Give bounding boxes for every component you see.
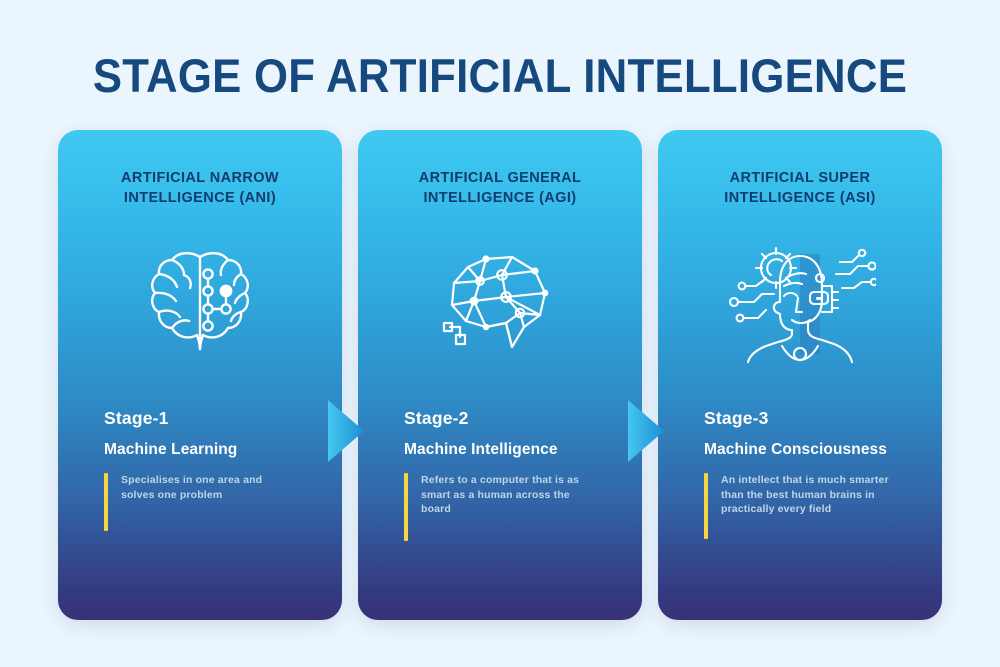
infographic-root: STAGE OF ARTIFICIAL INTELLIGENCE ARTIFIC… [0, 0, 1000, 667]
stage-description: Specialises in one area and solves one p… [121, 473, 296, 502]
card-heading-ani: ARTIFICIAL NARROW INTELLIGENCE (ANI) [58, 168, 342, 208]
arrow-stage2-to-stage3 [628, 400, 692, 462]
card-body-ani: Stage-1 Machine Learning Specialises in … [104, 408, 318, 531]
stage-description: Refers to a computer that is as smart as… [421, 473, 596, 517]
card-heading-line1: ARTIFICIAL SUPER [730, 170, 871, 186]
card-heading-line1: ARTIFICIAL NARROW [121, 170, 279, 186]
stage-name: Machine Learning [104, 441, 318, 459]
accent-bar [704, 473, 708, 539]
card-heading-line1: ARTIFICIAL GENERAL [419, 170, 581, 186]
stage-card-asi[interactable]: ARTIFICIAL SUPER INTELLIGENCE (ASI) [658, 130, 942, 620]
brain-circuit-top-icon [58, 238, 342, 368]
accent-bar [104, 473, 108, 531]
card-heading-agi: ARTIFICIAL GENERAL INTELLIGENCE (AGI) [358, 168, 642, 208]
stage-label: Stage-1 [104, 408, 318, 429]
card-heading-line2: INTELLIGENCE (ANI) [58, 188, 342, 208]
accent-bar [404, 473, 408, 541]
card-body-agi: Stage-2 Machine Intelligence Refers to a… [404, 408, 618, 541]
stage-card-ani[interactable]: ARTIFICIAL NARROW INTELLIGENCE (ANI) [58, 130, 342, 620]
card-body-asi: Stage-3 Machine Consciousness An intelle… [704, 408, 918, 539]
stage-card-agi[interactable]: ARTIFICIAL GENERAL INTELLIGENCE (AGI) [358, 130, 642, 620]
human-robot-head-icon [658, 238, 942, 368]
stage-name: Machine Consciousness [704, 441, 918, 459]
card-heading-line2: INTELLIGENCE (ASI) [658, 188, 942, 208]
card-heading-asi: ARTIFICIAL SUPER INTELLIGENCE (ASI) [658, 168, 942, 208]
description-row: Refers to a computer that is as smart as… [404, 473, 618, 541]
description-row: An intellect that is much smarter than t… [704, 473, 918, 539]
brain-network-polygon-icon [358, 238, 642, 368]
stage-card-list: ARTIFICIAL NARROW INTELLIGENCE (ANI) [0, 130, 1000, 620]
stage-description: An intellect that is much smarter than t… [721, 473, 896, 517]
description-row: Specialises in one area and solves one p… [104, 473, 318, 531]
stage-label: Stage-3 [704, 408, 918, 429]
stage-label: Stage-2 [404, 408, 618, 429]
stage-name: Machine Intelligence [404, 441, 618, 459]
arrow-stage1-to-stage2 [328, 400, 392, 462]
page-title: STAGE OF ARTIFICIAL INTELLIGENCE [35, 48, 965, 103]
card-heading-line2: INTELLIGENCE (AGI) [358, 188, 642, 208]
